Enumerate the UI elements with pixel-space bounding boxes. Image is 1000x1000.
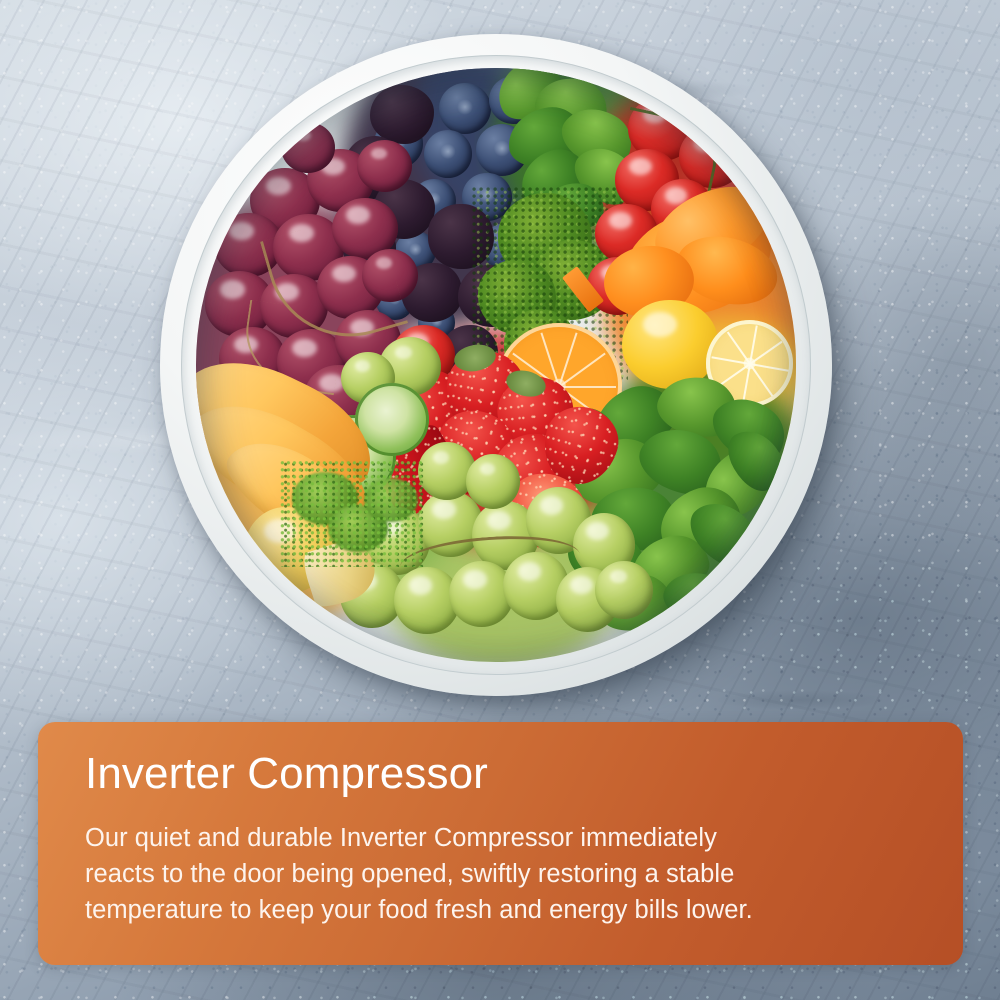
blueberry <box>439 83 491 134</box>
red-grape <box>281 122 335 173</box>
blueberry <box>424 130 472 177</box>
product-feature-card: Inverter Compressor Our quiet and durabl… <box>0 0 1000 1000</box>
fruit-bowl <box>160 34 832 696</box>
green-grape <box>595 561 653 619</box>
green-grape <box>466 454 520 509</box>
feature-description-line-3: temperature to keep your food fresh and … <box>85 892 885 928</box>
feature-description-line-2: reacts to the door being opened, swiftly… <box>85 856 885 892</box>
dill-frond-texture <box>280 460 424 567</box>
produce-arrangement <box>196 68 795 661</box>
feature-description-line-1: Our quiet and durable Inverter Compresso… <box>85 820 885 856</box>
red-grape <box>357 140 412 192</box>
feature-title: Inverter Compressor <box>85 748 923 800</box>
feature-description: Our quiet and durable Inverter Compresso… <box>85 820 885 929</box>
whole-lemon <box>622 300 718 389</box>
feature-text-card: Inverter Compressor Our quiet and durabl… <box>38 722 963 965</box>
